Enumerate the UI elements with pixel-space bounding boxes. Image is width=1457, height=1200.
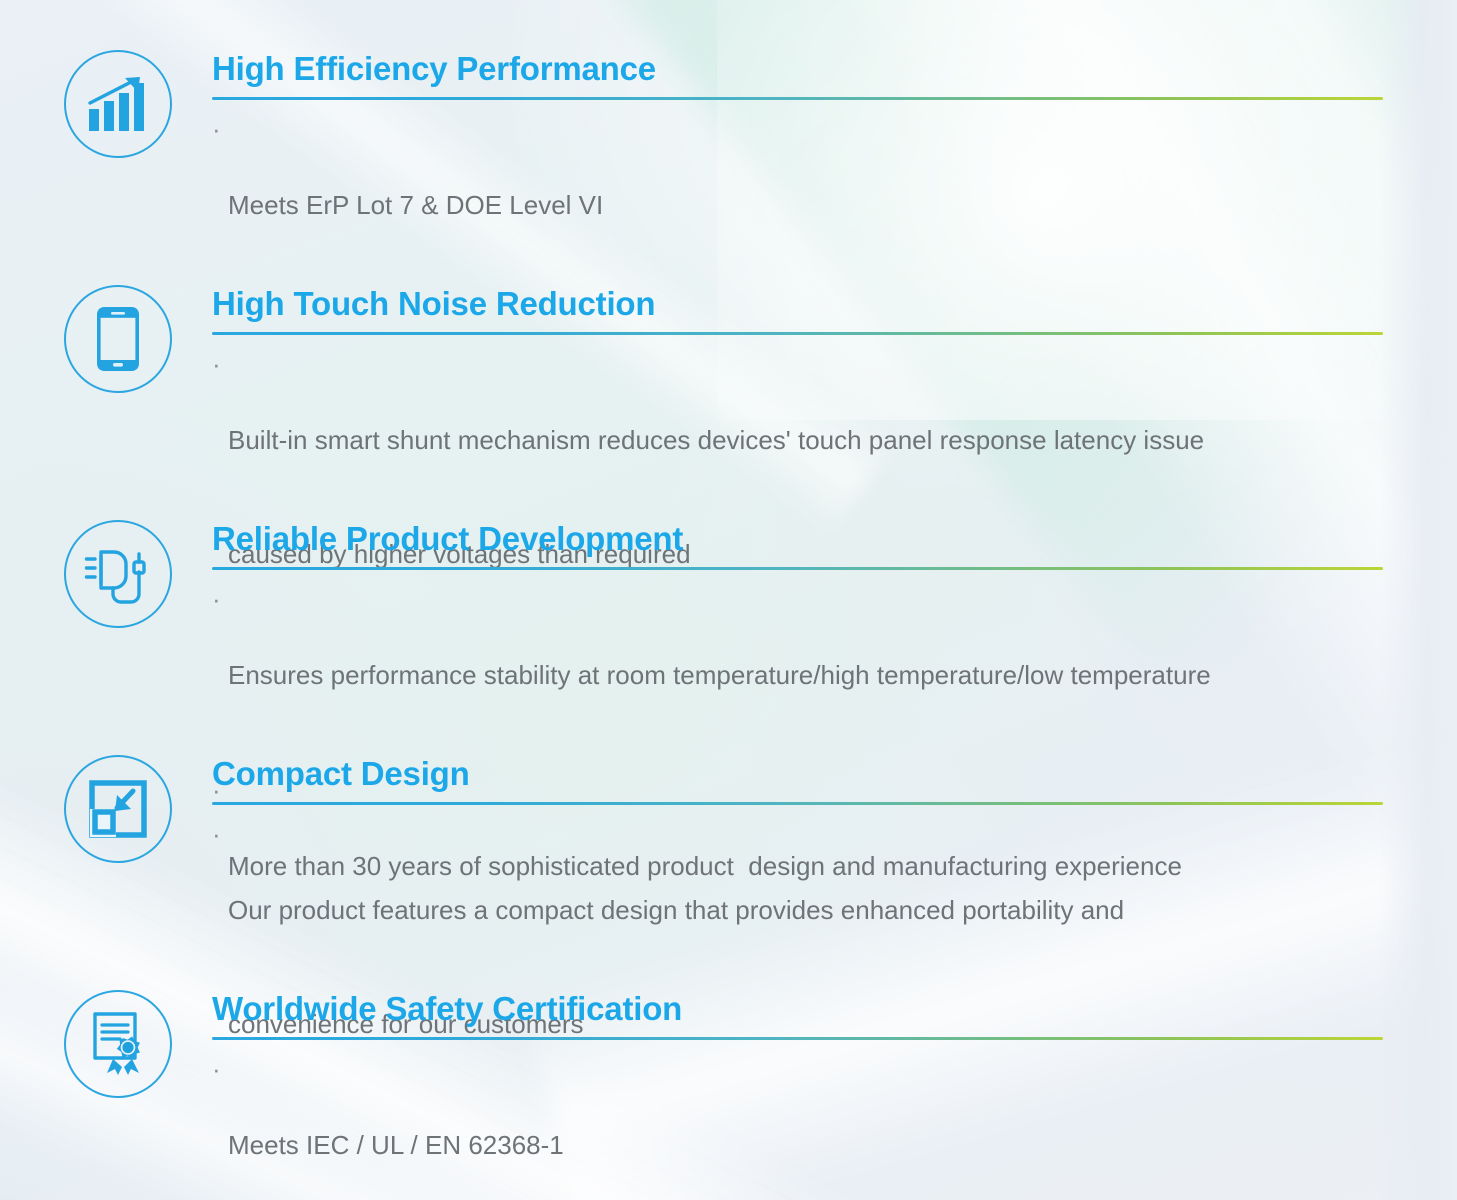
bullet-line: Built-in smart shunt mechanism reduces d… [228, 422, 1383, 460]
feature-icon-wrap [57, 755, 179, 863]
feature-divider [212, 332, 1383, 335]
bullet-text: Ensures performance stability at room te… [228, 581, 1383, 771]
bullet-item: · Meets ErP Lot 7 & DOE Level VI [212, 111, 1383, 301]
power-adapter-icon [64, 520, 172, 628]
feature-divider [212, 97, 1383, 100]
bar-chart-growth-icon [64, 50, 172, 158]
feature-body: Worldwide Safety Certification · Meets I… [212, 990, 1457, 1200]
bullet-text: Meets IEC / UL / EN 62368-1 [228, 1051, 1383, 1200]
feature-item-worldwide-safety-certification: Worldwide Safety Certification · Meets I… [0, 990, 1457, 1200]
compact-resize-icon [64, 755, 172, 863]
bullet-item: · Ensures performance stability at room … [212, 581, 1383, 771]
bullet-line: Our product features a compact design th… [228, 892, 1383, 930]
bullet-dot: · [212, 816, 228, 854]
feature-bullets: · Meets ErP Lot 7 & DOE Level VI [212, 111, 1383, 301]
bullet-dot: · [212, 111, 228, 149]
bullet-item: · Meets IEC / UL / EN 62368-1 [212, 1051, 1383, 1200]
feature-divider [212, 1037, 1383, 1040]
feature-title: High Efficiency Performance [212, 50, 1383, 89]
bullet-line: Meets IEC / UL / EN 62368-1 [228, 1127, 1383, 1165]
certificate-award-icon [64, 990, 172, 1098]
smartphone-icon [64, 285, 172, 393]
feature-icon-wrap [57, 50, 179, 158]
bullet-dot: · [212, 581, 228, 619]
feature-body: High Efficiency Performance · Meets ErP … [212, 50, 1457, 301]
feature-icon-wrap [57, 285, 179, 393]
feature-title: Worldwide Safety Certification [212, 990, 1383, 1029]
feature-title: High Touch Noise Reduction [212, 285, 1383, 324]
bullet-dot: · [212, 1051, 228, 1089]
feature-title: Reliable Product Development [212, 520, 1383, 559]
bullet-line: Meets ErP Lot 7 & DOE Level VI [228, 187, 1383, 225]
bullet-dot: · [212, 346, 228, 384]
bullet-line: Ensures performance stability at room te… [228, 657, 1383, 695]
feature-item-high-efficiency-performance: High Efficiency Performance · Meets ErP … [0, 50, 1457, 301]
feature-list: High Efficiency Performance · Meets ErP … [0, 0, 1457, 1200]
feature-title: Compact Design [212, 755, 1383, 794]
feature-icon-wrap [57, 990, 179, 1098]
bullet-text: Meets ErP Lot 7 & DOE Level VI [228, 111, 1383, 301]
feature-icon-wrap [57, 520, 179, 628]
feature-bullets: · Meets IEC / UL / EN 62368-1 [212, 1051, 1383, 1200]
feature-divider [212, 567, 1383, 570]
feature-divider [212, 802, 1383, 805]
